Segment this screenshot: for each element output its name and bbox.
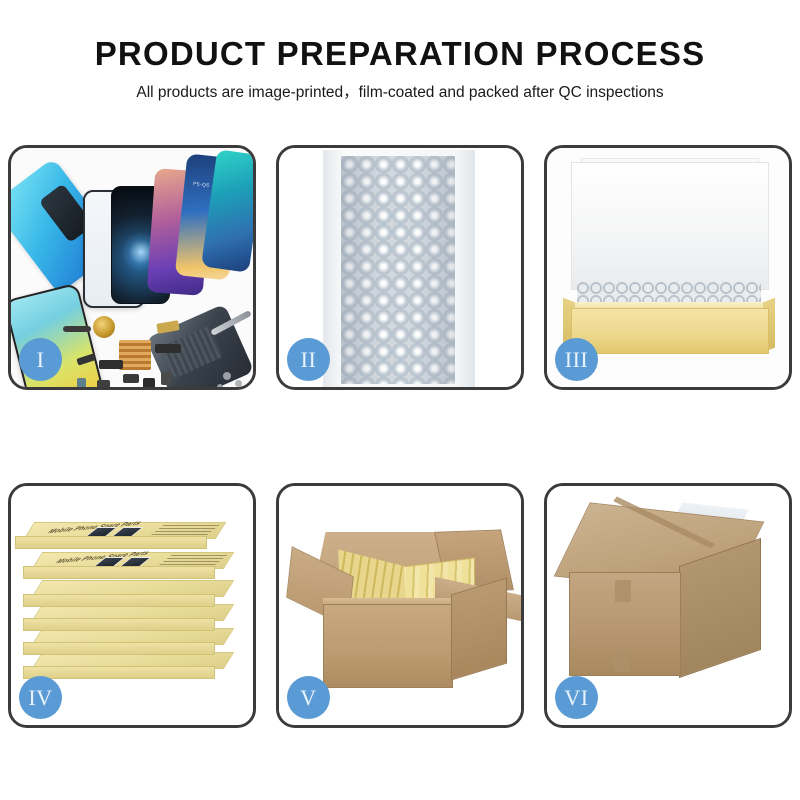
stacked-box-bottom-4 (23, 580, 229, 606)
process-step-2[interactable]: II (276, 145, 524, 390)
box-front-face (23, 594, 215, 607)
box-front-face (15, 536, 207, 549)
box-front-face (23, 642, 215, 655)
carton-front-face (323, 604, 453, 688)
bubble-shading (341, 156, 455, 384)
part-logic-board-chip (119, 340, 151, 370)
part-flex-cable-3 (155, 344, 181, 353)
part-connector-3 (161, 372, 171, 385)
step-badge-6: VI (555, 676, 598, 719)
process-step-3[interactable]: III (544, 145, 792, 390)
page-subtitle: All products are image-printed，film-coat… (0, 80, 800, 106)
page-title: PRODUCT PREPARATION PROCESS (0, 34, 800, 74)
box-front-face (23, 618, 215, 631)
part-connector-2 (143, 378, 155, 387)
process-step-5[interactable]: V (276, 483, 524, 728)
step-badge-1: I (19, 338, 62, 381)
stacked-box-labeled-lower: Mobile Phone Spare Parts (23, 552, 229, 578)
carton-side-face (451, 577, 507, 680)
part-connector-1 (123, 374, 139, 383)
header: PRODUCT PREPARATION PROCESS All products… (0, 34, 800, 106)
process-row-2: Mobile Phone Spare Parts Mobile Phone Sp… (0, 483, 800, 728)
stacked-box-bottom-1 (23, 652, 229, 678)
carton-handle-tab-bottom (613, 650, 629, 672)
part-screw-3 (217, 384, 223, 387)
step-badge-3: III (555, 338, 598, 381)
box-white-lid (571, 162, 769, 290)
step-badge-2: II (287, 338, 330, 381)
pouch-seal-right (453, 150, 475, 387)
bubble-grid (341, 156, 455, 384)
stacked-box-labeled-upper: Mobile Phone Spare Parts (15, 522, 221, 548)
part-screw-2 (235, 380, 242, 387)
stacked-box-bottom-3 (23, 604, 229, 630)
part-screw-1 (223, 372, 231, 380)
carton-handle-tab-top (615, 580, 631, 602)
step-badge-4: IV (19, 676, 62, 719)
stacked-box-bottom-2 (23, 628, 229, 654)
step-badge-5: V (287, 676, 330, 719)
part-speaker-coil (93, 316, 115, 338)
part-antenna-bar (63, 326, 91, 332)
process-step-4[interactable]: Mobile Phone Spare Parts Mobile Phone Sp… (8, 483, 256, 728)
box-front-face (23, 566, 215, 579)
process-step-6[interactable]: VI (544, 483, 792, 728)
process-steps-grid: P5-Q6 I (0, 145, 800, 728)
part-flex-cable-1 (99, 360, 123, 369)
part-camera-module (97, 380, 110, 387)
box-front-face (23, 666, 215, 679)
process-row-1: P5-Q6 I (0, 145, 800, 390)
process-step-1[interactable]: P5-Q6 I (8, 145, 256, 390)
box-kraft-front (571, 308, 769, 354)
part-sim-tray (77, 378, 86, 387)
